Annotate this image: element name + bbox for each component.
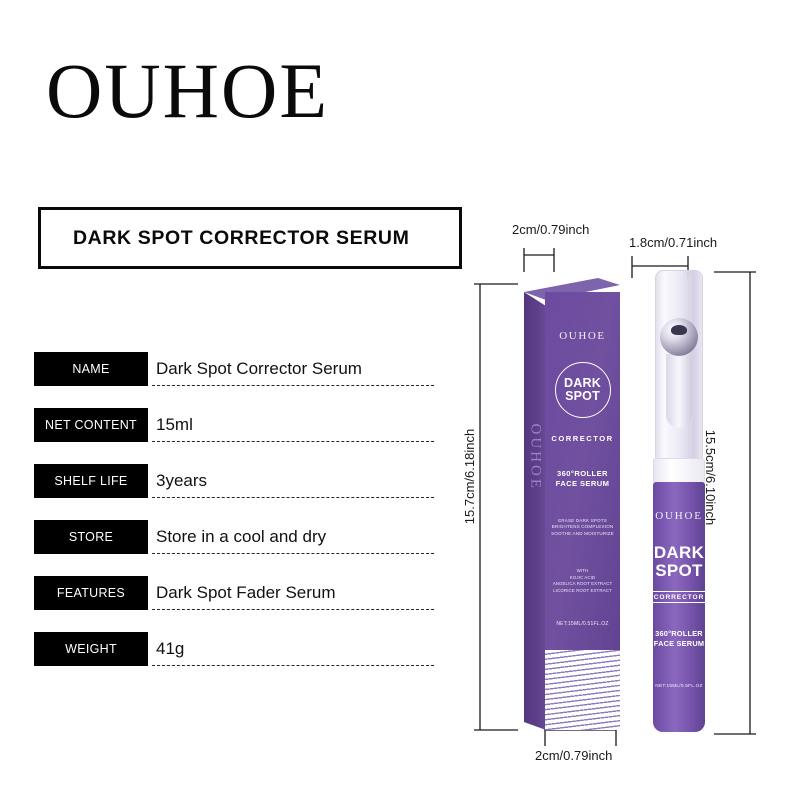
brand-logo: OUHOE [46, 52, 329, 130]
spec-value: 3years [150, 464, 434, 498]
pen-roller-text: 360°ROLLER FACE SERUM [654, 629, 704, 650]
carton-side-panel [524, 292, 546, 730]
carton-brand: OUHOE [559, 330, 606, 342]
spec-value: 15ml [150, 408, 434, 442]
table-row: SHELF LIFE 3years [34, 464, 434, 520]
spec-value: Dark Spot Corrector Serum [150, 352, 434, 386]
table-row: NET CONTENT 15ml [34, 408, 434, 464]
carton-with-label: WITH [553, 568, 613, 575]
spec-divider [152, 553, 434, 554]
pen-headline-line2: SPOT [654, 562, 704, 580]
spec-divider [152, 385, 434, 386]
spec-label: SHELF LIFE [34, 464, 148, 498]
spec-divider [152, 665, 434, 666]
table-row: NAME Dark Spot Corrector Serum [34, 352, 434, 408]
spec-value: 41g [150, 632, 434, 666]
pen-headline-line1: DARK [654, 544, 704, 562]
spec-label: FEATURES [34, 576, 148, 610]
pen-roller-line1: 360°ROLLER [654, 629, 704, 639]
table-row: FEATURES Dark Spot Fader Serum [34, 576, 434, 632]
pen-brand: OUHOE [655, 510, 703, 522]
spec-value: Dark Spot Fader Serum [150, 576, 434, 610]
carton-front-panel: OUHOE DARK SPOT CORRECTOR 360°ROLLER FAC… [545, 292, 620, 730]
pen-white-collar [653, 458, 705, 484]
carton-badge-line2: SPOT [565, 390, 600, 403]
product-carton-box: OUHOE OUHOE DARK SPOT CORRECTOR 360°ROLL… [524, 278, 620, 730]
page-title: DARK SPOT CORRECTOR SERUM [41, 227, 409, 250]
spec-divider [152, 441, 434, 442]
pen-roller-ball [660, 318, 698, 356]
carton-benefits-text: ERASE DARK SPOTS BRIGHTENS COMPLEXION SO… [551, 518, 614, 539]
spec-label: STORE [34, 520, 148, 554]
carton-ingredient-2: ANGELICA ROOT EXTRACT [553, 581, 613, 588]
carton-benefit-2: BRIGHTENS COMPLEXION [551, 524, 614, 531]
dimension-lines [466, 222, 796, 782]
spec-divider [152, 497, 434, 498]
spec-value-cell: 41g [150, 632, 434, 666]
carton-roller-line1: 360°ROLLER [556, 469, 610, 479]
carton-ingredient-3: LICORICE ROOT EXTRACT [553, 588, 613, 595]
dimension-box-height: 15.7cm/6.18inch [462, 429, 477, 524]
pen-roller-line2: FACE SERUM [654, 639, 704, 649]
spec-value: Store in a cool and dry [150, 520, 434, 554]
dimension-box-width-top: 2cm/0.79inch [512, 222, 589, 237]
product-title-box: DARK SPOT CORRECTOR SERUM [38, 207, 462, 269]
pen-applicator-neck [666, 354, 692, 428]
pen-corrector-badge: CORRECTOR [653, 591, 705, 603]
spec-label: NET CONTENT [34, 408, 148, 442]
carton-side-brand: OUHOE [527, 424, 544, 450]
spec-label: WEIGHT [34, 632, 148, 666]
pen-body-label: OUHOE DARK SPOT CORRECTOR 360°ROLLER FAC… [653, 482, 705, 732]
product-dimension-diagram: 2cm/0.79inch 1.8cm/0.71inch 15.7cm/6.18i… [466, 222, 796, 782]
dimension-pen-width-top: 1.8cm/0.71inch [629, 235, 717, 250]
spec-value-cell: 15ml [150, 408, 434, 442]
carton-ingredient-1: KOJIC ACID [553, 575, 613, 582]
pen-roller-ball-highlight [671, 325, 687, 335]
table-row: WEIGHT 41g [34, 632, 434, 688]
carton-roller-text: 360°ROLLER FACE SERUM [556, 469, 610, 490]
carton-ingredients-text: WITH KOJIC ACID ANGELICA ROOT EXTRACT LI… [553, 568, 613, 594]
spec-value-cell: Dark Spot Fader Serum [150, 576, 434, 610]
spec-divider [152, 609, 434, 610]
specification-table: NAME Dark Spot Corrector Serum NET CONTE… [34, 352, 434, 688]
spec-label: NAME [34, 352, 148, 386]
pen-net-volume: NET:15ML/0.5FL.OZ [655, 684, 702, 689]
carton-roller-line2: FACE SERUM [556, 479, 610, 489]
carton-dark-spot-badge: DARK SPOT [555, 362, 611, 418]
carton-benefit-1: ERASE DARK SPOTS [551, 518, 614, 525]
product-roller-pen: OUHOE DARK SPOT CORRECTOR 360°ROLLER FAC… [651, 270, 707, 732]
carton-net-volume: NET:15ML/0.51FL.OZ [556, 621, 608, 627]
dimension-box-width-bottom: 2cm/0.79inch [535, 748, 612, 763]
carton-benefit-3: SOOTHE AND MOISTURIZE [551, 531, 614, 538]
table-row: STORE Store in a cool and dry [34, 520, 434, 576]
pen-headline: DARK SPOT [654, 544, 704, 580]
spec-value-cell: Dark Spot Corrector Serum [150, 352, 434, 386]
spec-value-cell: 3years [150, 464, 434, 498]
spec-value-cell: Store in a cool and dry [150, 520, 434, 554]
carton-stripe-band [545, 650, 620, 730]
carton-corrector-label: CORRECTOR [551, 434, 613, 443]
